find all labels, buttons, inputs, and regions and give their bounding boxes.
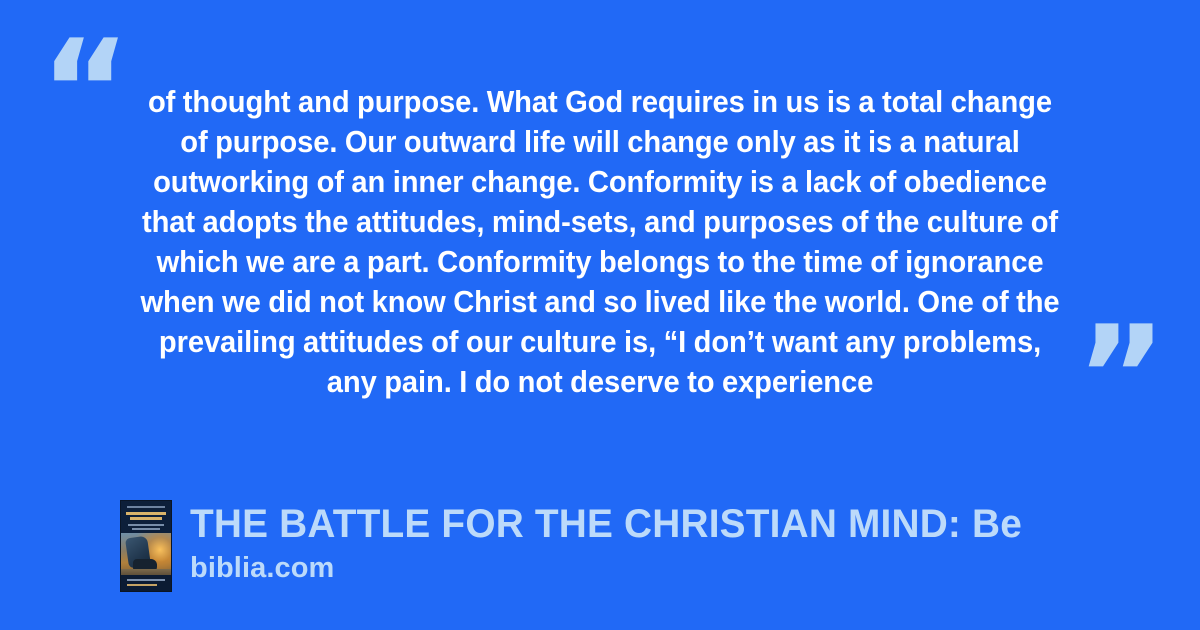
cover-footer-band	[121, 575, 171, 591]
cover-footer-line-1	[127, 579, 165, 581]
cover-author-line	[127, 506, 165, 508]
cover-title-line-2	[130, 517, 162, 520]
close-quote-icon: ”	[1076, 308, 1167, 446]
quote-text: of thought and purpose. What God require…	[138, 82, 1062, 402]
footer: THE BATTLE FOR THE CHRISTIAN MIND: Be bi…	[120, 500, 1048, 592]
book-title: THE BATTLE FOR THE CHRISTIAN MIND: Be	[190, 502, 1022, 546]
site-name: biblia.com	[190, 552, 1048, 584]
book-cover-thumbnail	[120, 500, 172, 592]
footer-text-group: THE BATTLE FOR THE CHRISTIAN MIND: Be bi…	[190, 500, 1048, 584]
cover-footer-line-2	[127, 584, 157, 586]
quote-block: of thought and purpose. What God require…	[116, 82, 1084, 402]
cover-title-line-1	[126, 512, 166, 515]
quote-card: “ of thought and purpose. What God requi…	[0, 0, 1200, 630]
cover-subtitle-line-1	[128, 524, 164, 526]
cover-subtitle-line-2	[132, 528, 160, 530]
